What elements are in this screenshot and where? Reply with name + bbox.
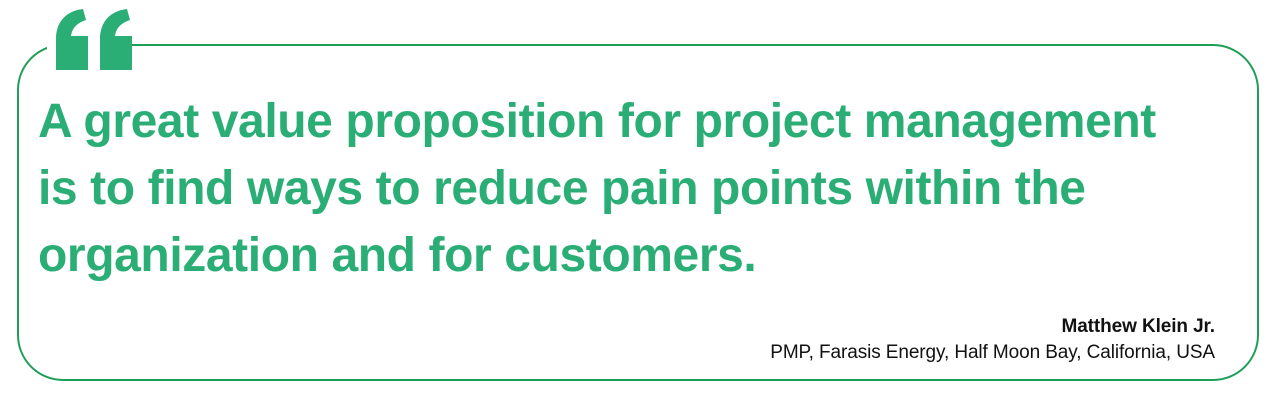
attribution-detail: PMP, Farasis Energy, Half Moon Bay, Cali… (770, 339, 1215, 366)
attribution-name: Matthew Klein Jr. (770, 314, 1215, 339)
quote-attribution: Matthew Klein Jr. PMP, Farasis Energy, H… (770, 314, 1215, 366)
quote-text: A great value proposition for project ma… (38, 88, 1228, 289)
pull-quote-card: A great value proposition for project ma… (0, 0, 1277, 402)
left-double-quotation-mark-icon (50, 6, 140, 84)
